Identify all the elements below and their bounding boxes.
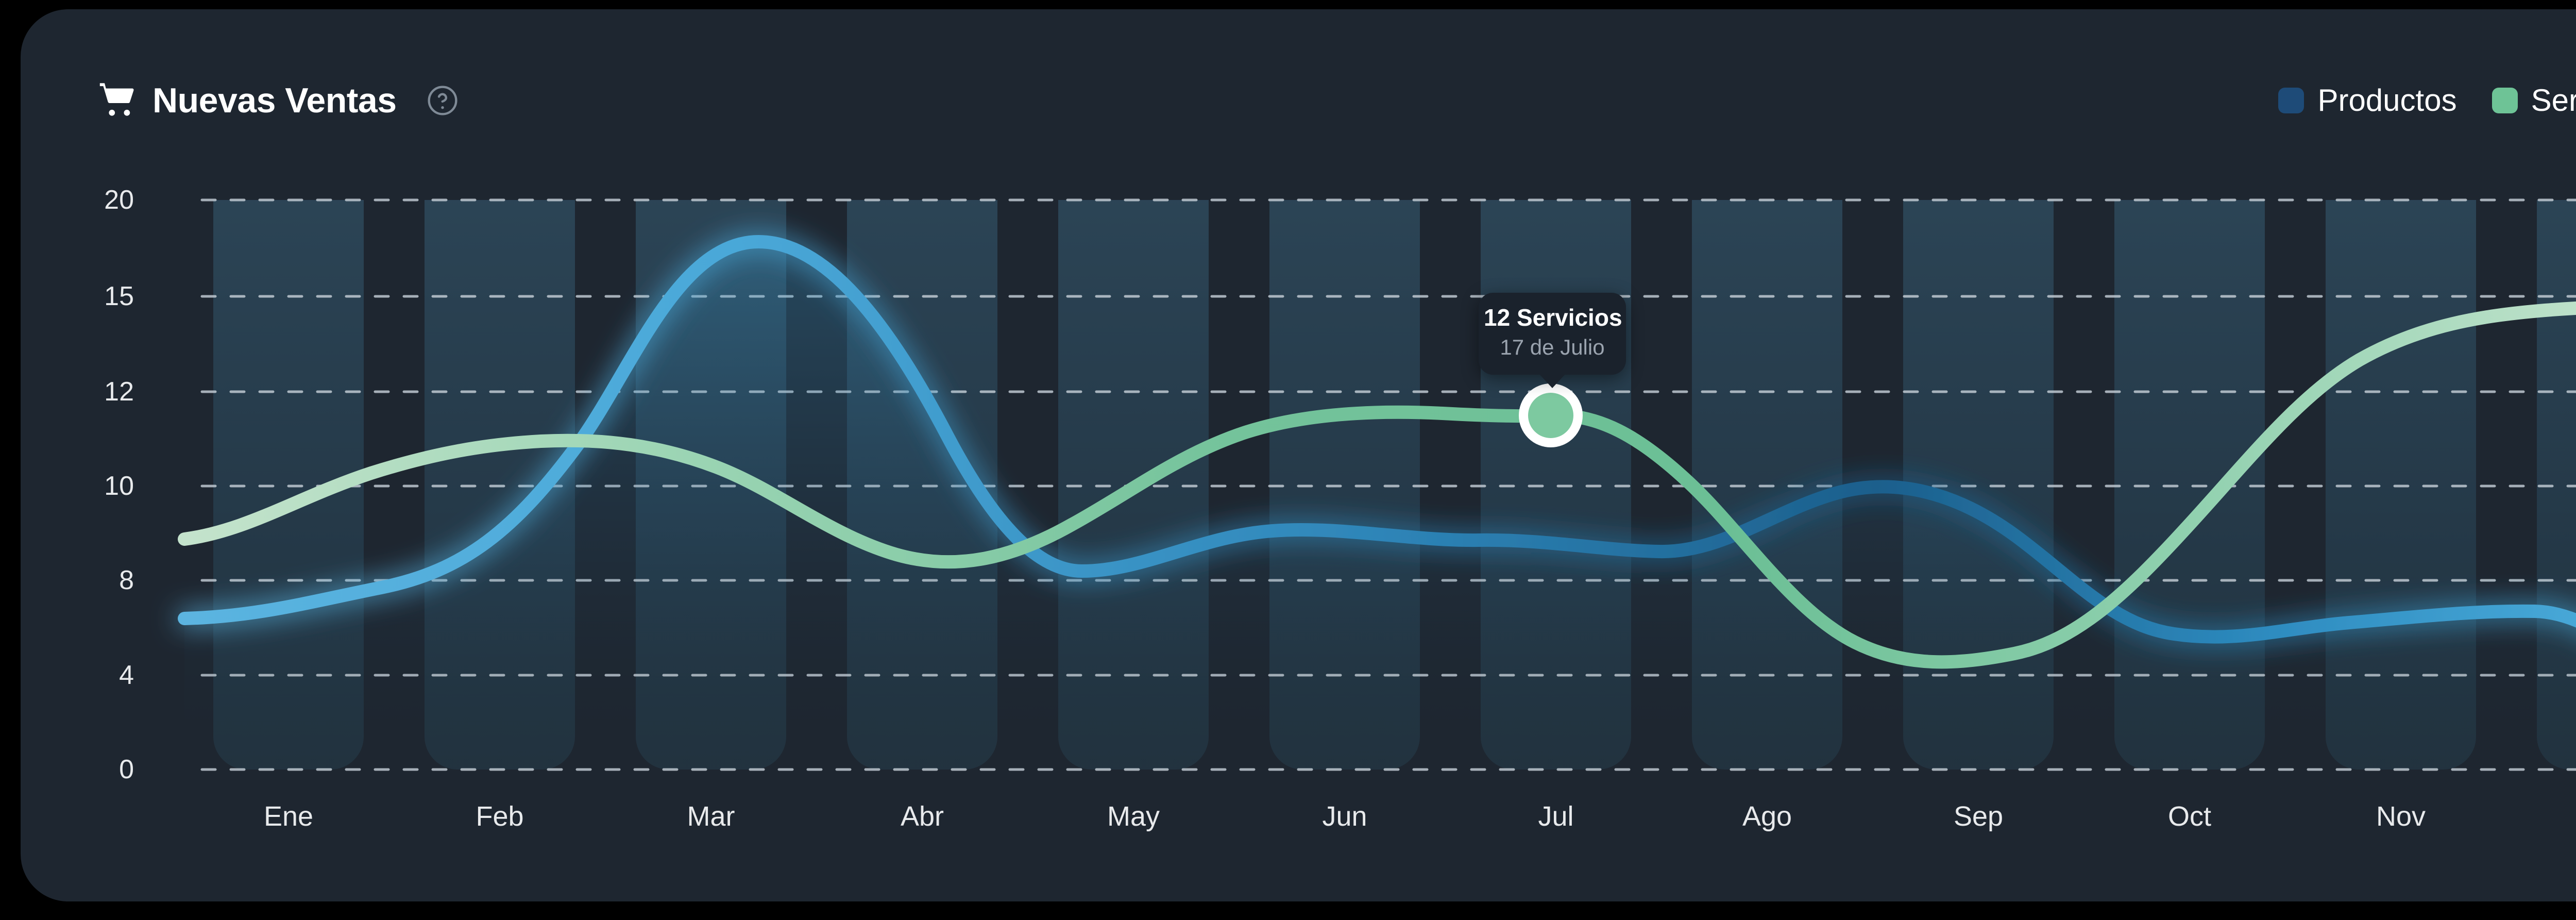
xtick-label-feb: Feb (422, 800, 577, 832)
xtick-label-dic: Dic (2535, 800, 2576, 832)
chart-svg (21, 9, 2576, 920)
xtick-label-abr: Abr (845, 800, 999, 832)
xtick-label-ago: Ago (1690, 800, 1844, 832)
xtick-label-ene: Ene (211, 800, 366, 832)
tooltip-date: 17 de Julio (1484, 333, 1621, 362)
xtick-label-mar: Mar (634, 800, 788, 832)
ytick-label-10: 10 (72, 471, 134, 501)
xtick-label-jun: Jun (1267, 800, 1422, 832)
ytick-label-15: 15 (72, 281, 134, 312)
xtick-label-oct: Oct (2112, 800, 2267, 832)
ytick-label-4: 4 (72, 660, 134, 691)
chart-plot-area: 20 15 12 10 8 4 0 Ene Feb Mar Abr May Ju… (21, 9, 2576, 901)
tooltip-value: 12 Servicios (1484, 304, 1621, 331)
ytick-label-8: 8 (72, 565, 134, 596)
xtick-label-may: May (1056, 800, 1211, 832)
ytick-label-20: 20 (72, 185, 134, 215)
tooltip-arrow (1539, 374, 1566, 388)
ytick-label-0: 0 (72, 754, 134, 785)
chart-tooltip: 12 Servicios 17 de Julio (1479, 293, 1626, 375)
xtick-label-jul: Jul (1479, 800, 1633, 832)
xtick-label-sep: Sep (1901, 800, 2056, 832)
ytick-label-12: 12 (72, 376, 134, 407)
data-point-marker[interactable] (1515, 379, 1587, 451)
xtick-label-nov: Nov (2324, 800, 2478, 832)
sales-chart-card: Nuevas Ventas Productos Servicios (21, 9, 2576, 901)
